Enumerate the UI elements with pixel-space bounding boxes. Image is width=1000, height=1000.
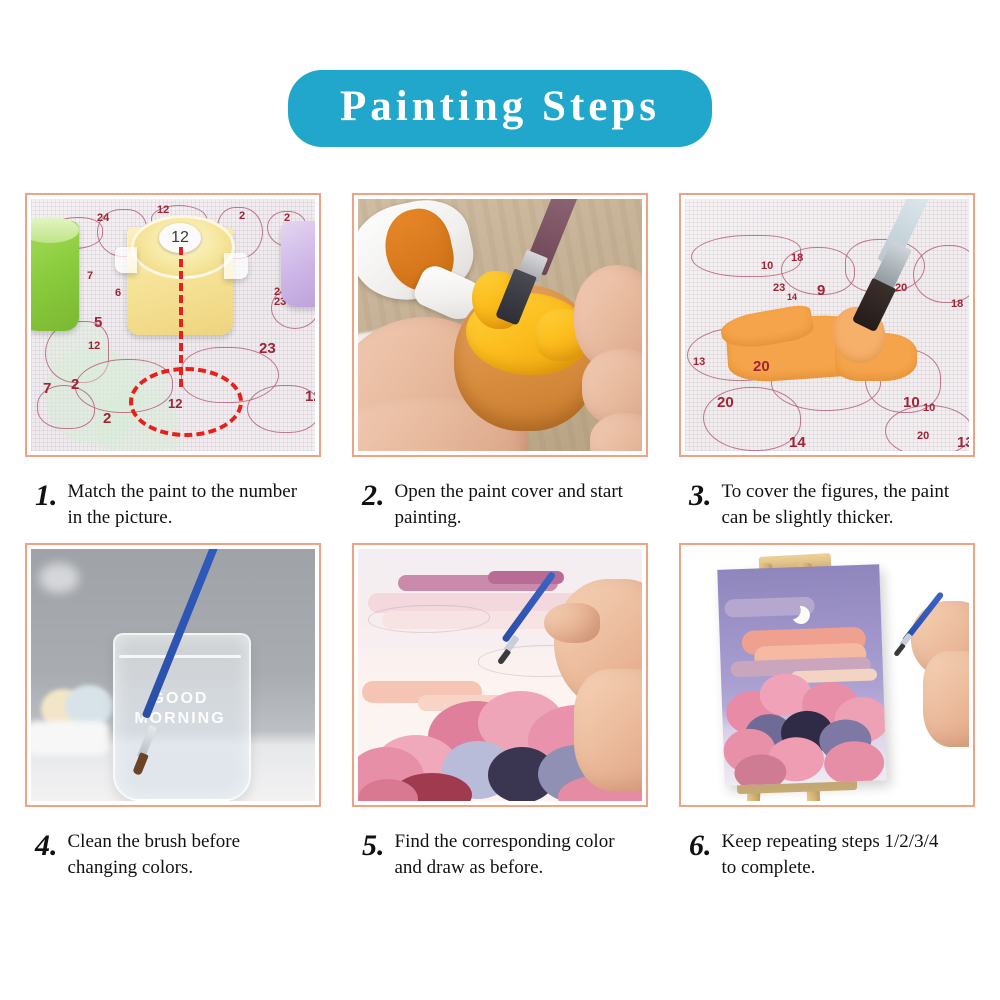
step-card-6: 6. Keep repeating steps 1/2/3/4 to compl… [679, 543, 975, 893]
step-card-3: 10 18 23 14 9 20 18 20 13 10 20 14 13 20… [679, 193, 975, 543]
step-text-3: To cover the figures, the paint can be s… [722, 479, 954, 530]
finished-canvas [717, 564, 886, 786]
step-caption-1: 1. Match the paint to the number in the … [25, 457, 321, 543]
step-text-4: Clean the brush before changing colors. [68, 829, 300, 880]
step-image-frame-5 [352, 543, 648, 807]
finished-painting-on-wooden-easel-image [685, 549, 969, 801]
target-number-label: 12 [168, 397, 182, 410]
step-text-2: Open the paint cover and start painting. [395, 479, 627, 530]
step-number-3: 3. [689, 479, 712, 511]
title-banner: Painting Steps [288, 70, 712, 147]
canvas-number: 10 [903, 395, 920, 410]
canvas-number: 5 [94, 315, 102, 330]
paint-pot-matching-number-on-canvas-image: 12 24 2 7 6 5 12 7 2 2 23 24 23 12 2 [31, 199, 315, 451]
glass-text-line-2: MORNING [113, 709, 247, 729]
red-dashed-target-circle [129, 367, 243, 437]
glass-text-line-1: GOOD [113, 689, 247, 709]
canvas-number: 23 [773, 283, 785, 294]
canvas-number: 20 [753, 359, 770, 374]
step-number-1: 1. [35, 479, 58, 511]
canvas-number: 12 [88, 341, 100, 352]
canvas-number: 7 [43, 381, 51, 396]
step-text-5: Find the corresponding color and draw as… [395, 829, 627, 880]
canvas-number: 7 [87, 271, 93, 282]
page-title: Painting Steps [340, 84, 660, 129]
step-caption-3: 3. To cover the figures, the paint can b… [679, 457, 975, 543]
canvas-number: 20 [717, 395, 734, 410]
step-image-frame-4: GOOD MORNING [25, 543, 321, 807]
step-image-frame-6 [679, 543, 975, 807]
step-card-2: 2. Open the paint cover and start painti… [352, 193, 648, 543]
step-card-1: 12 24 2 7 6 5 12 7 2 2 23 24 23 12 2 [25, 193, 321, 543]
brush-painting-orange-stroke-on-numbered-canvas-image: 10 18 23 14 9 20 18 20 13 10 20 14 13 20… [685, 199, 969, 451]
canvas-number: 23 [259, 341, 276, 356]
canvas-number: 14 [787, 293, 797, 302]
step-number-5: 5. [362, 829, 385, 861]
step-caption-2: 2. Open the paint cover and start painti… [352, 457, 648, 543]
step-image-frame-2 [352, 193, 648, 457]
step-number-2: 2. [362, 479, 385, 511]
step-image-frame-3: 10 18 23 14 9 20 18 20 13 10 20 14 13 20… [679, 193, 975, 457]
brush-rinsing-in-glass-of-water-image: GOOD MORNING [31, 549, 315, 801]
canvas-number: 2 [239, 211, 245, 222]
steps-grid: 12 24 2 7 6 5 12 7 2 2 23 24 23 12 2 [25, 193, 975, 893]
step-number-6: 6. [689, 829, 712, 861]
hand-painting-cherry-blossom-canvas-image [358, 549, 642, 801]
hand-holding-open-paint-pot-with-brush-image [358, 199, 642, 451]
canvas-number: 2 [103, 411, 111, 426]
step-caption-5: 5. Find the corresponding color and draw… [352, 807, 648, 893]
water-surface [119, 655, 241, 658]
step-card-5: 5. Find the corresponding color and draw… [352, 543, 648, 893]
canvas-number: 14 [789, 435, 806, 450]
step-text-6: Keep repeating steps 1/2/3/4 to complete… [722, 829, 954, 880]
crescent-moon-icon [782, 601, 801, 620]
canvas-number: 13 [693, 357, 705, 368]
red-dashed-connector [179, 247, 183, 387]
glass-printed-text: GOOD MORNING [113, 689, 247, 729]
step-caption-4: 4. Clean the brush before changing color… [25, 807, 321, 893]
canvas-number: 10 [923, 403, 935, 414]
canvas-number: 20 [917, 431, 929, 442]
canvas-number: 24 [97, 213, 109, 224]
step-image-frame-1: 12 24 2 7 6 5 12 7 2 2 23 24 23 12 2 [25, 193, 321, 457]
step-text-1: Match the paint to the number in the pic… [68, 479, 300, 530]
purple-paint-pot [281, 221, 315, 307]
canvas-number: 12 [305, 389, 315, 404]
canvas-number: 13 [957, 435, 969, 450]
canvas-number: 6 [115, 288, 121, 299]
canvas-number: 10 [761, 261, 773, 272]
page-header: Painting Steps [0, 70, 1000, 147]
canvas-number: 9 [817, 283, 825, 298]
step-caption-6: 6. Keep repeating steps 1/2/3/4 to compl… [679, 807, 975, 893]
canvas-number: 18 [791, 253, 803, 264]
canvas-number: 20 [895, 283, 907, 294]
step-number-4: 4. [35, 829, 58, 861]
canvas-number: 2 [71, 377, 79, 392]
canvas-number: 12 [157, 205, 169, 216]
step-card-4: GOOD MORNING 4. Clean the brush before c… [25, 543, 321, 893]
canvas-number: 18 [951, 299, 963, 310]
